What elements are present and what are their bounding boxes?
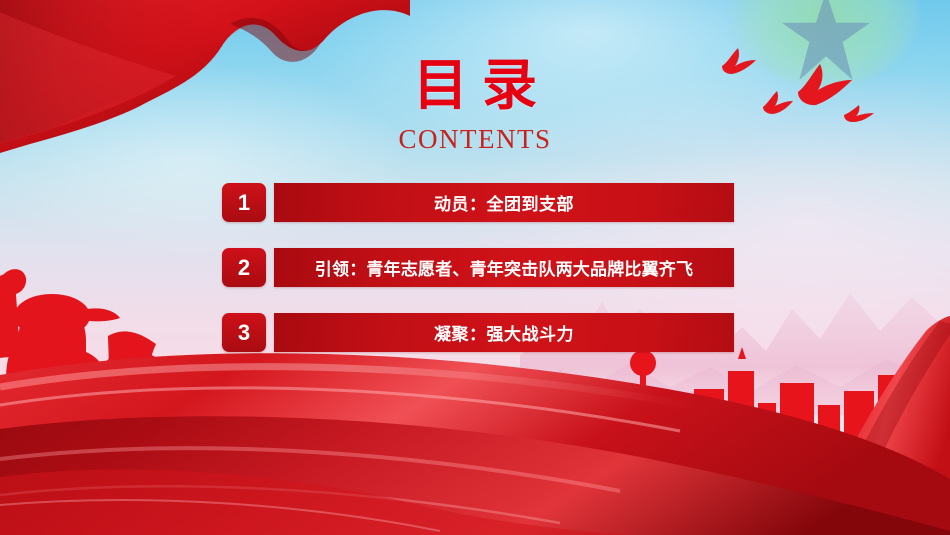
toc-number-badge-2: 2 bbox=[222, 248, 266, 287]
table-of-contents: 1 动员：全团到支部 2 引领：青年志愿者、青年突击队两大品牌比翼齐飞 3 凝聚… bbox=[222, 183, 734, 352]
toc-label-3: 凝聚：强大战斗力 bbox=[428, 320, 580, 345]
page-title-english: CONTENTS bbox=[0, 126, 950, 153]
toc-bar-3[interactable]: 凝聚：强大战斗力 bbox=[274, 313, 734, 352]
toc-number-badge-3: 3 bbox=[222, 313, 266, 352]
page-title-chinese: 目录 bbox=[0, 58, 950, 113]
toc-item-3[interactable]: 3 凝聚：强大战斗力 bbox=[222, 313, 734, 352]
slide-content: 目录 CONTENTS 1 动员：全团到支部 2 引领：青年志愿者、青年突击队两… bbox=[0, 0, 950, 535]
toc-label-1: 动员：全团到支部 bbox=[428, 190, 580, 215]
toc-bar-1[interactable]: 动员：全团到支部 bbox=[274, 183, 734, 222]
toc-bar-2[interactable]: 引领：青年志愿者、青年突击队两大品牌比翼齐飞 bbox=[274, 248, 734, 287]
toc-label-2: 引领：青年志愿者、青年突击队两大品牌比翼齐飞 bbox=[309, 255, 699, 280]
toc-item-2[interactable]: 2 引领：青年志愿者、青年突击队两大品牌比翼齐飞 bbox=[222, 248, 734, 287]
toc-item-1[interactable]: 1 动员：全团到支部 bbox=[222, 183, 734, 222]
presentation-slide: 目录 CONTENTS 1 动员：全团到支部 2 引领：青年志愿者、青年突击队两… bbox=[0, 0, 950, 535]
toc-number-badge-1: 1 bbox=[222, 183, 266, 222]
